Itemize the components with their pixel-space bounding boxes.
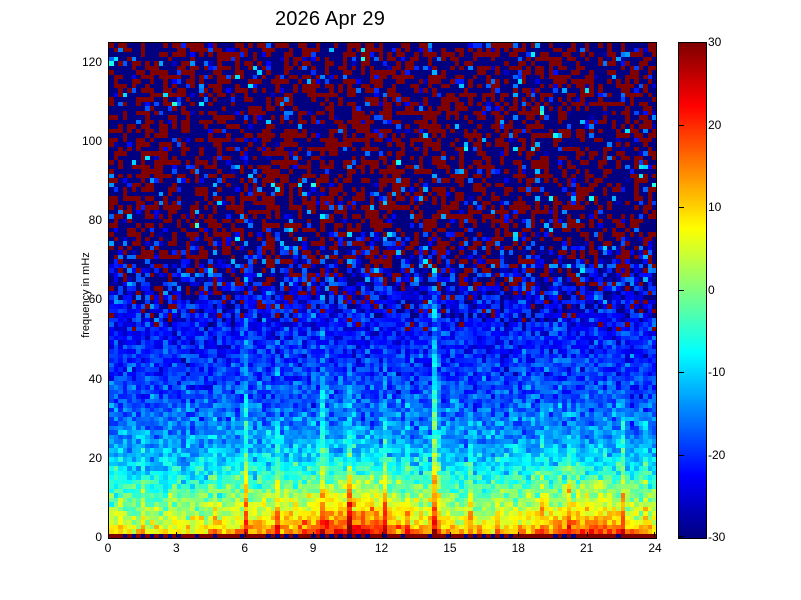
colorbar-tick-label: 10 [708,200,721,214]
x-axis-tick-labels: 03691215182124 [108,541,655,561]
chart-title: 2026 Apr 29 [0,8,660,31]
x-tick-label: 18 [512,541,525,555]
x-tick-label: 6 [241,541,248,555]
colorbar-tick-label: -20 [708,448,725,462]
y-axis-tick-labels: 020406080100120 [68,42,102,537]
x-tick-label: 3 [173,541,180,555]
colorbar-tick-label: 0 [708,283,715,297]
x-tick-label: 0 [105,541,112,555]
colorbar-tick-mark [679,125,684,126]
y-tick-label: 100 [68,134,102,148]
x-tick-mark [313,532,314,537]
colorbar-tick-mark [679,42,684,43]
x-tick-mark [382,532,383,537]
x-tick-mark [176,532,177,537]
y-tick-label: 120 [68,55,102,69]
y-tick-label: 0 [68,530,102,544]
x-tick-label: 24 [648,541,661,555]
x-axis-tick-marks [108,532,655,538]
x-tick-label: 12 [375,541,388,555]
y-tick-label: 60 [68,292,102,306]
spectrogram-plot-area[interactable] [108,42,657,539]
colorbar-tick-label: -30 [708,530,725,544]
colorbar-tick-label: -10 [708,365,725,379]
colorbar-tick-mark [679,455,684,456]
x-tick-mark [108,532,109,537]
x-tick-label: 9 [310,541,317,555]
x-tick-mark [450,532,451,537]
y-tick-label: 80 [68,213,102,227]
spectrogram-image [109,43,656,538]
colorbar-tick-label: 30 [708,35,721,49]
colorbar-tick-mark [679,207,684,208]
x-tick-label: 15 [443,541,456,555]
x-tick-label: 21 [580,541,593,555]
colorbar-tick-mark [679,290,684,291]
x-tick-mark [654,532,655,537]
colorbar-tick-mark [679,372,684,373]
colorbar-tick-labels: -30-20-100102030 [708,42,748,537]
x-tick-mark [245,532,246,537]
figure-root: 2026 Apr 29 frequency in mHz 02040608010… [0,0,801,600]
x-tick-mark [518,532,519,537]
colorbar-tick-label: 20 [708,118,721,132]
colorbar-tick-marks [679,42,685,537]
x-tick-mark [587,532,588,537]
colorbar-tick-mark [679,536,684,537]
y-tick-label: 20 [68,451,102,465]
y-tick-label: 40 [68,372,102,386]
